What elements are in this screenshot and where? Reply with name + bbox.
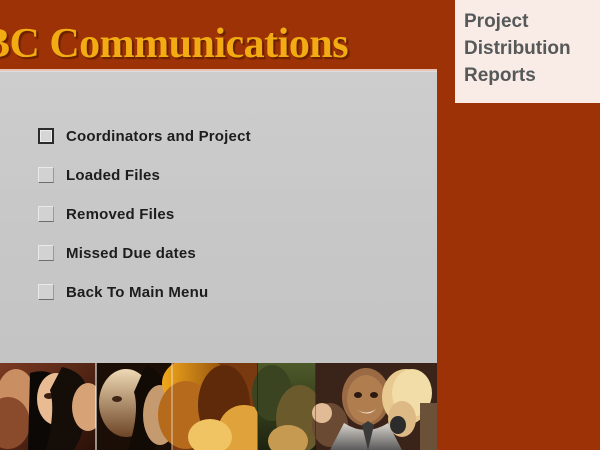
- reports-header-text: Project Distribution Reports: [464, 8, 600, 89]
- menu-item-label: Back To Main Menu: [66, 284, 208, 301]
- app-window: BC Communications Coordinators and Proje…: [0, 0, 600, 450]
- checkbox-icon[interactable]: [38, 206, 54, 222]
- reports-header-line-2: Distribution: [464, 35, 600, 62]
- menu-list: Coordinators and Project Loaded Files Re…: [38, 124, 418, 319]
- menu-item-label: Removed Files: [66, 206, 174, 223]
- photo-collage-image: [0, 363, 437, 450]
- photo-collage-strip: [0, 363, 437, 450]
- checkbox-icon[interactable]: [38, 128, 54, 144]
- checkbox-icon[interactable]: [38, 245, 54, 261]
- menu-item-coordinators-and-project[interactable]: Coordinators and Project: [38, 124, 418, 148]
- menu-item-label: Loaded Files: [66, 167, 160, 184]
- menu-item-loaded-files[interactable]: Loaded Files: [38, 163, 418, 187]
- checkbox-icon[interactable]: [38, 284, 54, 300]
- menu-item-missed-due-dates[interactable]: Missed Due dates: [38, 241, 418, 265]
- banner-divider: [0, 69, 437, 71]
- reports-header-line-1: Project: [464, 8, 600, 35]
- menu-panel: Coordinators and Project Loaded Files Re…: [0, 71, 437, 363]
- menu-item-removed-files[interactable]: Removed Files: [38, 202, 418, 226]
- reports-header-card: Project Distribution Reports: [455, 0, 600, 103]
- reports-header-line-3: Reports: [464, 62, 600, 89]
- menu-item-label: Missed Due dates: [66, 245, 196, 262]
- checkbox-icon[interactable]: [38, 167, 54, 183]
- menu-item-label: Coordinators and Project: [66, 128, 251, 145]
- menu-item-back-to-main-menu[interactable]: Back To Main Menu: [38, 280, 418, 304]
